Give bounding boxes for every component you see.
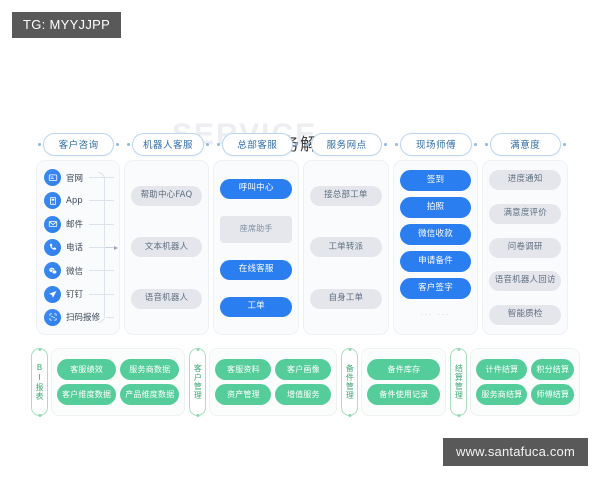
node-item[interactable]: 文本机器人	[131, 237, 203, 257]
bottom-node-item[interactable]: 师傅结算	[531, 384, 574, 405]
header-dot-icon	[38, 143, 41, 146]
node-item[interactable]: 语音机器人回访	[489, 271, 561, 291]
node-item[interactable]: 呼叫中心	[220, 179, 292, 199]
bottom-node-item[interactable]: 计件结算	[476, 359, 527, 380]
column-header-field-engineer[interactable]: 现场师傅	[400, 133, 471, 156]
flow-arrow-icon	[105, 246, 118, 250]
website-icon	[44, 169, 61, 186]
header-dot-icon	[217, 143, 220, 146]
grouping-brace	[98, 172, 105, 323]
header-dot-icon	[206, 143, 209, 146]
bottom-node-item[interactable]: 资产管理	[215, 384, 271, 405]
app-icon	[44, 192, 61, 209]
column-header-satisfaction[interactable]: 满意度	[490, 133, 561, 156]
bottom-section-items: 客服资料客户画像资产管理增值服务	[209, 348, 337, 416]
node-item[interactable]: 在线客服	[220, 260, 292, 280]
watermark-bottom-badge: www.santafuca.com	[443, 438, 588, 466]
bottom-modules-row: BI报表客服绩效服务商数据客户维度数据产品维度数据客户管理客服资料客户画像资产管…	[31, 348, 571, 416]
bottom-section-label-parts-management[interactable]: 备件管理	[341, 348, 358, 416]
bottom-node-item[interactable]: 备件使用记录	[367, 384, 440, 405]
column-header-robot-service[interactable]: 机器人客服	[132, 133, 203, 156]
contact-channel-label: 邮件	[66, 218, 83, 230]
node-item[interactable]: 帮助中心FAQ	[131, 186, 203, 206]
node-item[interactable]: 智能质检	[489, 305, 561, 325]
header-dot-icon	[295, 143, 298, 146]
column-header-cell-robot-service: 机器人客服	[125, 133, 210, 156]
wechat-icon	[44, 262, 61, 279]
node-item[interactable]: 拍照	[400, 197, 472, 218]
node-stack: 签到拍照微信收款申请备件客户签字··· ···	[400, 170, 472, 325]
title-block: SERVICE 现场服务解决方案	[0, 60, 600, 106]
contact-channel-label: App	[66, 196, 83, 206]
node-stack: 进度通知满意度评价问卷调研语音机器人回访智能质检	[489, 170, 561, 325]
columns-container: 官网App邮件电话微信钉钉扫码报修帮助中心FAQ文本机器人语音机器人呼叫中心座席…	[36, 160, 568, 335]
phone-icon	[44, 239, 61, 256]
bottom-section-bi-report: BI报表客服绩效服务商数据客户维度数据产品维度数据	[31, 348, 185, 416]
bottom-node-item[interactable]: 客服绩效	[57, 359, 116, 380]
column-service-branch: 接总部工单工单转派自身工单	[303, 160, 389, 335]
column-header-cell-service-branch: 服务网点	[304, 133, 389, 156]
bottom-section-customer-management: 客户管理客服资料客户画像资产管理增值服务	[189, 348, 337, 416]
bottom-node-item[interactable]: 产品维度数据	[120, 384, 179, 405]
node-item[interactable]: 满意度评价	[489, 204, 561, 224]
node-stack: 呼叫中心座席助手在线客服工单	[220, 170, 292, 325]
contact-channel-label: 官网	[66, 172, 83, 184]
header-dot-icon	[127, 143, 130, 146]
connector-line	[106, 317, 114, 318]
contact-channel-label: 扫码报修	[66, 311, 100, 323]
more-items-ellipsis: ··· ···	[400, 311, 472, 319]
node-item[interactable]: 工单转派	[310, 237, 382, 257]
bottom-section-label-customer-management[interactable]: 客户管理	[189, 348, 206, 416]
bottom-node-item[interactable]: 服务商数据	[120, 359, 179, 380]
contact-channel-label: 钉钉	[66, 288, 83, 300]
dingtalk-icon	[44, 286, 61, 303]
node-item[interactable]: 工单	[220, 297, 292, 317]
bottom-section-items: 备件库存备件使用记录	[361, 348, 446, 416]
bottom-node-item[interactable]: 客服资料	[215, 359, 271, 380]
qrcode-icon	[44, 309, 61, 326]
node-item[interactable]: 申请备件	[400, 251, 472, 272]
column-header-hq-service[interactable]: 总部客服	[222, 133, 293, 156]
node-item[interactable]: 座席助手	[220, 216, 292, 243]
bottom-node-item[interactable]: 客户维度数据	[57, 384, 116, 405]
bottom-section-parts-management: 备件管理备件库存备件使用记录	[341, 348, 446, 416]
node-item[interactable]: 进度通知	[489, 170, 561, 190]
header-dot-icon	[395, 143, 398, 146]
node-item[interactable]: 自身工单	[310, 289, 382, 309]
node-item[interactable]: 接总部工单	[310, 186, 382, 206]
column-header-cell-field-engineer: 现场师傅	[393, 133, 478, 156]
node-item[interactable]: 语音机器人	[131, 289, 203, 309]
bottom-section-settlement-management: 结算管理计件结算积分结算服务商结算师傅结算	[450, 348, 580, 416]
column-field-engineer: 签到拍照微信收款申请备件客户签字··· ···	[393, 160, 479, 335]
column-customer-inquiry: 官网App邮件电话微信钉钉扫码报修	[36, 160, 120, 335]
header-dot-icon	[306, 143, 309, 146]
bottom-section-items: 计件结算积分结算服务商结算师傅结算	[470, 348, 580, 416]
column-header-customer-inquiry[interactable]: 客户咨询	[43, 133, 114, 156]
column-hq-service: 呼叫中心座席助手在线客服工单	[213, 160, 299, 335]
node-stack: 接总部工单工单转派自身工单	[310, 170, 382, 325]
contact-channel-label: 电话	[66, 241, 83, 253]
mail-icon	[44, 216, 61, 233]
contact-channel-label: 微信	[66, 265, 83, 277]
column-robot-service: 帮助中心FAQ文本机器人语音机器人	[124, 160, 210, 335]
header-dot-icon	[485, 143, 488, 146]
column-headers-row: 客户咨询机器人客服总部客服服务网点现场师傅满意度	[36, 132, 568, 156]
bottom-node-item[interactable]: 服务商结算	[476, 384, 527, 405]
column-header-service-branch[interactable]: 服务网点	[311, 133, 382, 156]
column-header-cell-satisfaction: 满意度	[483, 133, 568, 156]
header-dot-icon	[563, 143, 566, 146]
infographic-root: TG: MYYJJPP SERVICE 现场服务解决方案 客户咨询机器人客服总部…	[0, 0, 600, 480]
bottom-section-label-settlement-management[interactable]: 结算管理	[450, 348, 467, 416]
bottom-node-item[interactable]: 客户画像	[275, 359, 331, 380]
header-dot-icon	[474, 143, 477, 146]
bottom-section-items: 客服绩效服务商数据客户维度数据产品维度数据	[51, 348, 185, 416]
watermark-top-badge: TG: MYYJJPP	[12, 12, 121, 38]
column-satisfaction: 进度通知满意度评价问卷调研语音机器人回访智能质检	[482, 160, 568, 335]
node-item[interactable]: 客户签字	[400, 278, 472, 299]
header-dot-icon	[116, 143, 119, 146]
bottom-node-item[interactable]: 积分结算	[531, 359, 574, 380]
bottom-node-item[interactable]: 增值服务	[275, 384, 331, 405]
node-item[interactable]: 问卷调研	[489, 238, 561, 258]
column-header-cell-hq-service: 总部客服	[215, 133, 300, 156]
node-item[interactable]: 签到	[400, 170, 472, 191]
node-stack: 帮助中心FAQ文本机器人语音机器人	[131, 170, 203, 325]
column-header-cell-customer-inquiry: 客户咨询	[36, 133, 121, 156]
bottom-node-item[interactable]: 备件库存	[367, 359, 440, 380]
header-dot-icon	[384, 143, 387, 146]
node-item[interactable]: 微信收款	[400, 224, 472, 245]
bottom-section-label-bi-report[interactable]: BI报表	[31, 348, 48, 416]
